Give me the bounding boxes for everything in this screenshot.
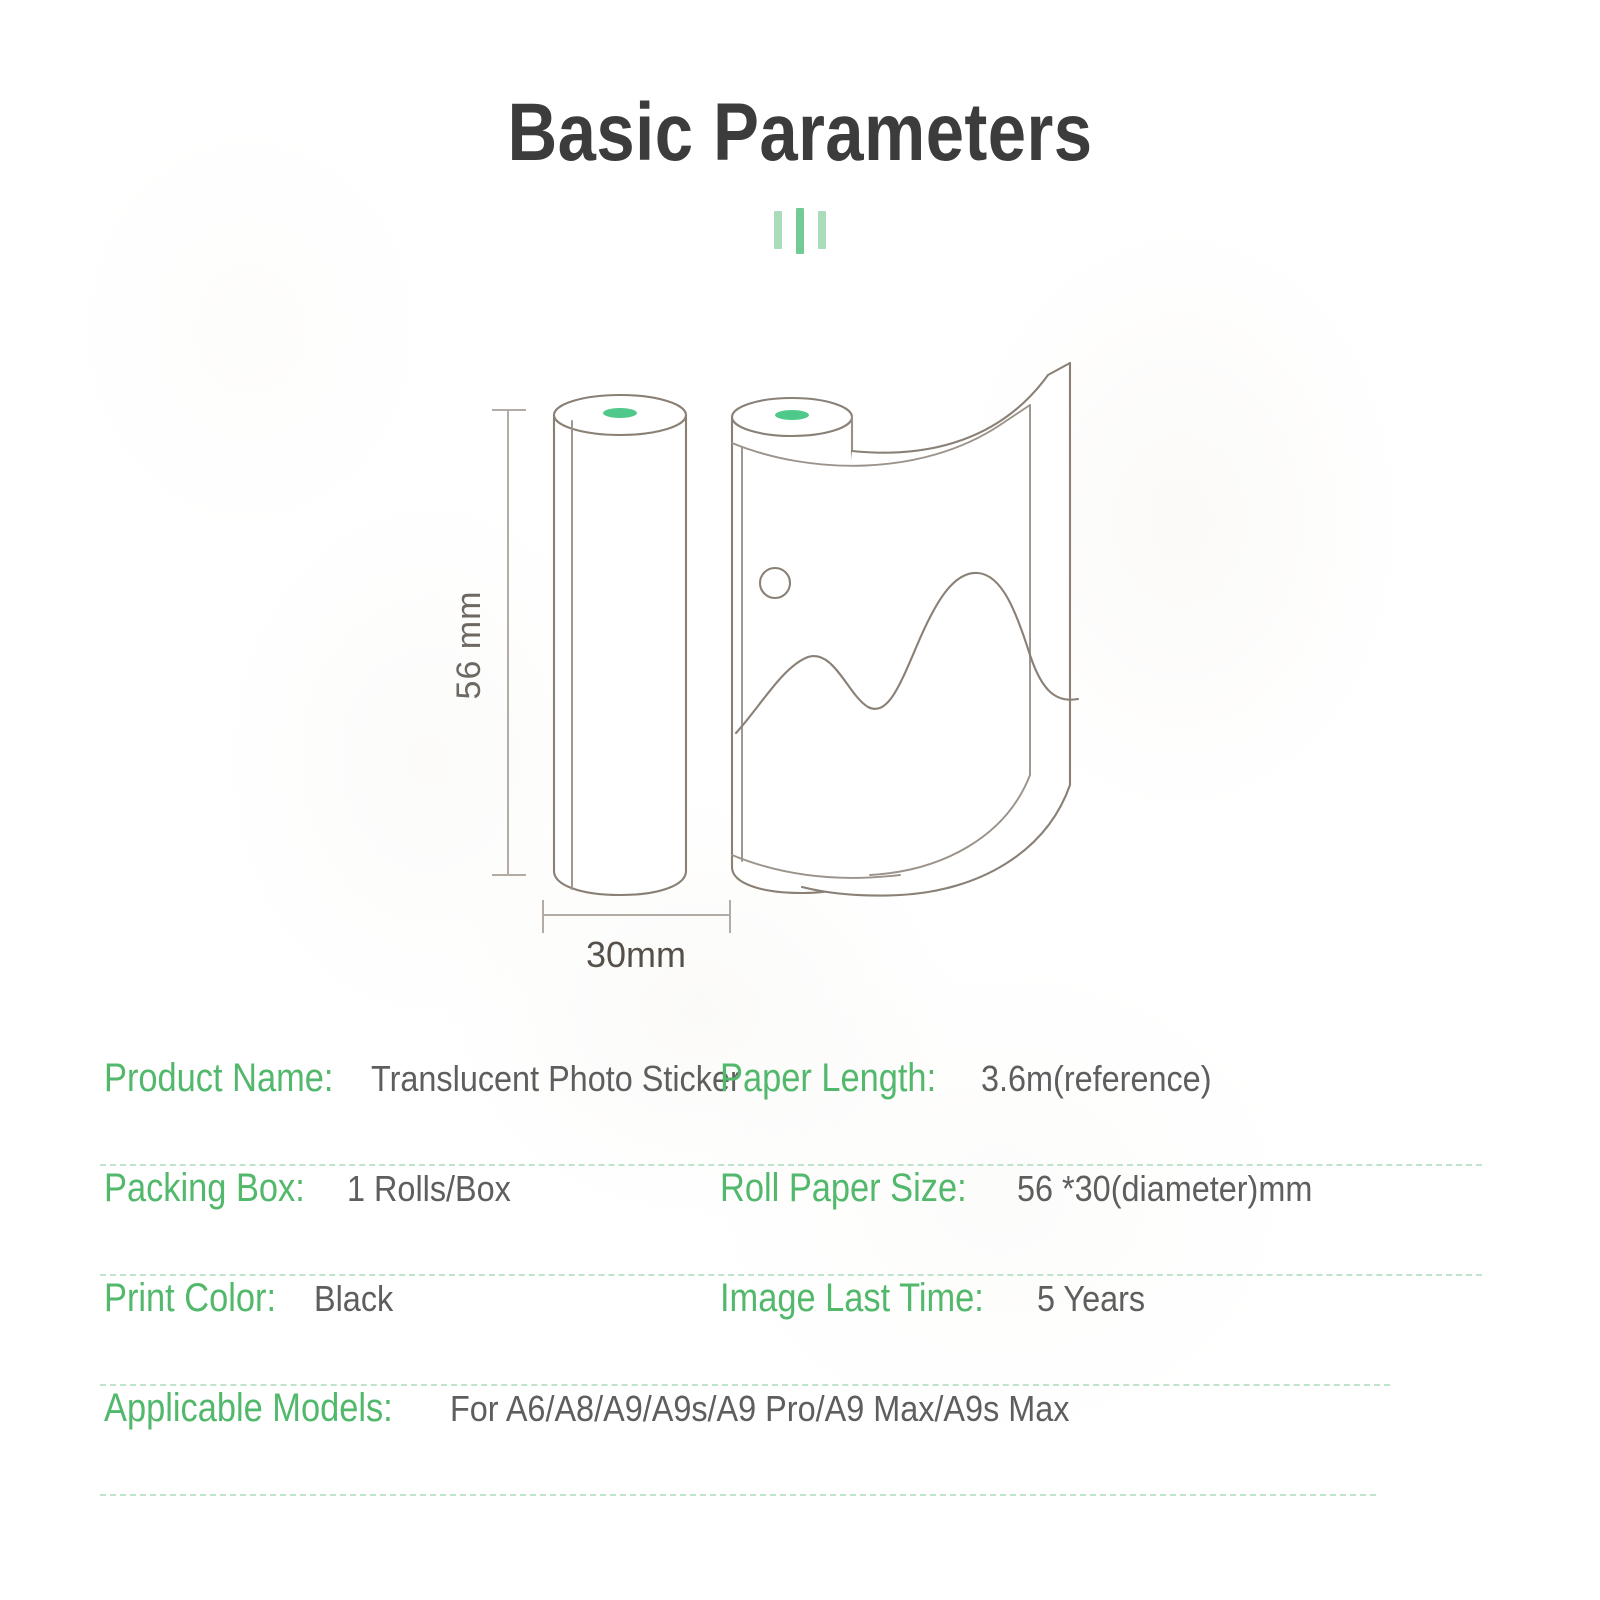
height-dimension-label: 56 mm: [450, 591, 488, 700]
spec-value-applicable-models: For A6/A8/A9/A9s/A9 Pro/A9 Max/A9s Max: [450, 1388, 1069, 1430]
spec-label-product-name: Product Name:: [104, 1056, 333, 1101]
specifications-table: Product Name: Translucent Photo Sticker …: [0, 1056, 1600, 1496]
spec-cell-packing-box: Packing Box: 1 Rolls/Box: [0, 1166, 720, 1211]
spec-label-roll-paper-size: Roll Paper Size:: [720, 1166, 967, 1211]
roll-core-green-right: [775, 410, 809, 420]
width-dimension-line: [543, 900, 730, 933]
spec-row-print-color: Print Color: Black Image Last Time: 5 Ye…: [0, 1276, 1600, 1386]
spec-label-print-color: Print Color:: [104, 1276, 276, 1321]
spec-row-packing-box: Packing Box: 1 Rolls/Box Roll Paper Size…: [0, 1166, 1600, 1276]
spec-cell-print-color: Print Color: Black: [0, 1276, 720, 1321]
spec-cell-applicable-models: Applicable Models: For A6/A8/A9/A9s/A9 P…: [0, 1386, 1490, 1431]
title-divider-bars: [0, 208, 1600, 256]
spec-value-packing-box: 1 Rolls/Box: [347, 1168, 511, 1210]
spec-cell-product-name: Product Name: Translucent Photo Sticker: [0, 1056, 720, 1101]
paper-roll-illustration: .ln { fill: none; stroke: #8a8076; strok…: [430, 355, 1150, 995]
spec-row-product-name: Product Name: Translucent Photo Sticker …: [0, 1056, 1600, 1166]
spec-separator-4: [100, 1494, 1376, 1496]
divider-bar-right: [818, 211, 826, 249]
spec-value-paper-length: 3.6m(reference): [981, 1058, 1211, 1100]
spec-value-roll-paper-size: 56 *30(diameter)mm: [1017, 1168, 1312, 1210]
spec-cell-roll-paper-size: Roll Paper Size: 56 *30(diameter)mm: [720, 1166, 1480, 1211]
spec-label-paper-length: Paper Length:: [720, 1056, 936, 1101]
spec-value-print-color: Black: [314, 1278, 393, 1320]
page-header: Basic Parameters: [0, 92, 1600, 256]
spec-cell-paper-length: Paper Length: 3.6m(reference): [720, 1056, 1480, 1101]
spec-label-applicable-models: Applicable Models:: [104, 1386, 393, 1431]
spec-label-image-last-time: Image Last Time:: [720, 1276, 984, 1321]
paper-roll-left: [554, 395, 686, 895]
height-dimension-line: [492, 410, 526, 875]
divider-bar-left: [774, 211, 782, 249]
width-dimension-label: 30mm: [586, 934, 686, 975]
spec-row-applicable-models: Applicable Models: For A6/A8/A9/A9s/A9 P…: [0, 1386, 1600, 1496]
page-title: Basic Parameters: [128, 92, 1472, 174]
divider-bar-middle: [796, 208, 804, 254]
spec-cell-image-last-time: Image Last Time: 5 Years: [720, 1276, 1480, 1321]
spec-value-product-name: Translucent Photo Sticker: [371, 1058, 741, 1100]
spec-label-packing-box: Packing Box:: [104, 1166, 305, 1211]
spec-value-image-last-time: 5 Years: [1037, 1278, 1145, 1320]
roll-core-green-left: [603, 408, 637, 418]
product-spec-page: Basic Parameters .ln { fill: none; strok…: [0, 0, 1600, 1600]
